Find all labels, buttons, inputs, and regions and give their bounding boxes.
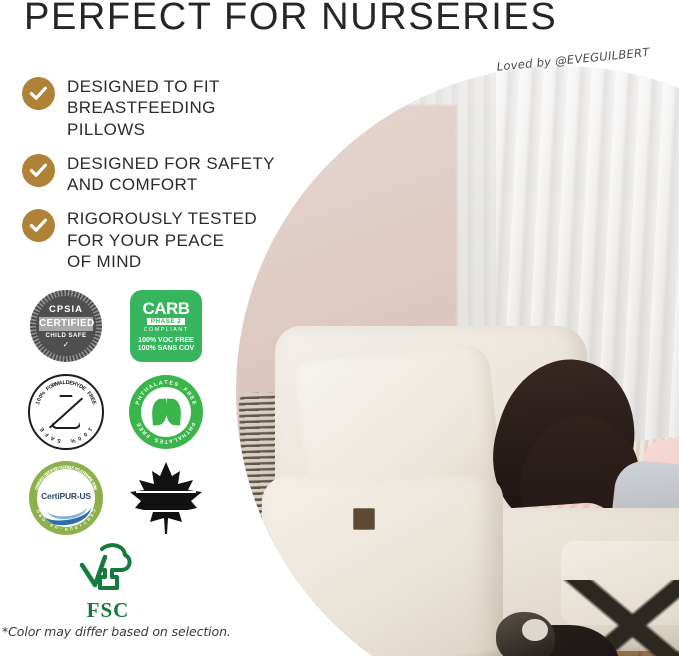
carb-phase2-badge: CARB PHASE 2 COMPLIANT 100% VOC FREE 100…	[130, 290, 202, 362]
carb-voc-label: 100% VOC FREE	[138, 337, 194, 345]
cpsia-certified-badge: CPSIA CERTIFIED CHILD SAFE ✓	[30, 290, 102, 362]
feature-label: DESIGNED FOR SAFETY AND COMFORT	[67, 153, 275, 196]
page-title: PERFECT FOR NURSERIES	[24, 0, 557, 39]
check-circle-icon	[22, 77, 55, 110]
phthalates-free-badge: PHTHALATES FREEPHTHALATES FREE	[129, 375, 203, 449]
feature-list: DESIGNED TO FIT BREASTFEEDING PILLOWS DE…	[22, 76, 292, 285]
certification-badges: CPSIA CERTIFIED CHILD SAFE ✓ CARB PHASE …	[16, 283, 216, 541]
lifestyle-photo	[236, 66, 679, 656]
cpsia-title: CPSIA	[49, 304, 83, 315]
dog-face-patch	[522, 619, 548, 642]
carb-compliant-label: COMPLIANT	[144, 327, 189, 333]
ccpsa-badge: CCPSA	[127, 460, 205, 536]
feature-item: RIGOROUSLY TESTED FOR YOUR PEACE OF MIND	[22, 208, 292, 272]
check-circle-icon	[22, 154, 55, 187]
feature-label: DESIGNED TO FIT BREASTFEEDING PILLOWS	[67, 76, 292, 140]
feature-label: RIGOROUSLY TESTED FOR YOUR PEACE OF MIND	[67, 208, 257, 272]
badge-row: 100% FORMALDEHYDE FREE100% SAFE PHTHALAT…	[16, 369, 216, 455]
badge-row: CONTAINS CERTIFIED FLEXIBLE POLYURETHANE…	[16, 455, 216, 541]
promo-image-root: PERFECT FOR NURSERIES Loved by @EVEGUILB…	[0, 0, 679, 656]
carb-title: CARB	[142, 299, 189, 319]
recliner-armrest	[262, 476, 503, 656]
carb-phase-label: PHASE 2	[147, 318, 186, 325]
carb-sanscov-label: 100% SANS COV	[138, 345, 194, 353]
certipur-us-badge: CONTAINS CERTIFIED FLEXIBLE POLYURETHANE…	[29, 461, 103, 535]
fsc-badge: FSC	[68, 543, 148, 623]
formaldehyde-free-badge: 100% FORMALDEHYDE FREE100% SAFE	[28, 374, 104, 450]
certipur-label: CertiPUR-US	[41, 491, 91, 501]
feature-item: DESIGNED FOR SAFETY AND COMFORT	[22, 153, 292, 196]
brand-tag	[353, 508, 375, 530]
fsc-tree-icon	[76, 543, 140, 597]
feature-item: DESIGNED TO FIT BREASTFEEDING PILLOWS	[22, 76, 292, 140]
cpsia-childsafe-label: CHILD SAFE	[46, 333, 87, 339]
fsc-label: FSC	[68, 598, 148, 623]
cpsia-certified-label: CERTIFIED	[39, 317, 93, 331]
ccpsa-label: CCPSA	[127, 493, 205, 510]
cpsia-check-icon: ✓	[63, 340, 70, 349]
footnote: *Color may differ based on selection.	[2, 624, 231, 639]
badge-row: CPSIA CERTIFIED CHILD SAFE ✓ CARB PHASE …	[16, 283, 216, 369]
check-circle-icon	[22, 209, 55, 242]
